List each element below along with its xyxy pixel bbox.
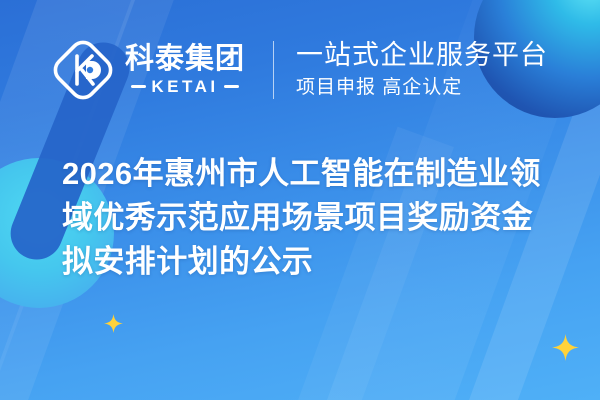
rule-left-icon xyxy=(131,85,146,88)
brand-name-en: KETAI xyxy=(151,78,218,95)
sparkle-large-right-icon xyxy=(552,334,579,361)
brand-logo-wordmark: 科泰集团 KETAI xyxy=(125,45,245,95)
tagline: 一站式企业服务平台 项目申报 高企认定 xyxy=(296,40,548,99)
ketai-kp-monogram-icon xyxy=(52,39,114,101)
header-divider xyxy=(273,41,274,99)
brand-logo: 科泰集团 KETAI xyxy=(52,39,245,101)
tagline-sub: 项目申报 高企认定 xyxy=(296,77,548,100)
sparkle-small-left-icon xyxy=(104,314,123,333)
tagline-main: 一站式企业服务平台 xyxy=(296,40,548,70)
promo-banner: 科泰集团 KETAI 一站式企业服务平台 项目申报 高企认定 2026年惠州市人… xyxy=(0,0,600,400)
rule-right-icon xyxy=(224,85,239,88)
brand-name-en-row: KETAI xyxy=(125,78,245,95)
banner-header: 科泰集团 KETAI 一站式企业服务平台 项目申报 高企认定 xyxy=(0,0,600,140)
brand-name-cn: 科泰集团 xyxy=(125,45,245,75)
page-title: 2026年惠州市人工智能在制造业领域优秀示范应用场景项目奖励资金拟安排计划的公示 xyxy=(62,152,560,284)
